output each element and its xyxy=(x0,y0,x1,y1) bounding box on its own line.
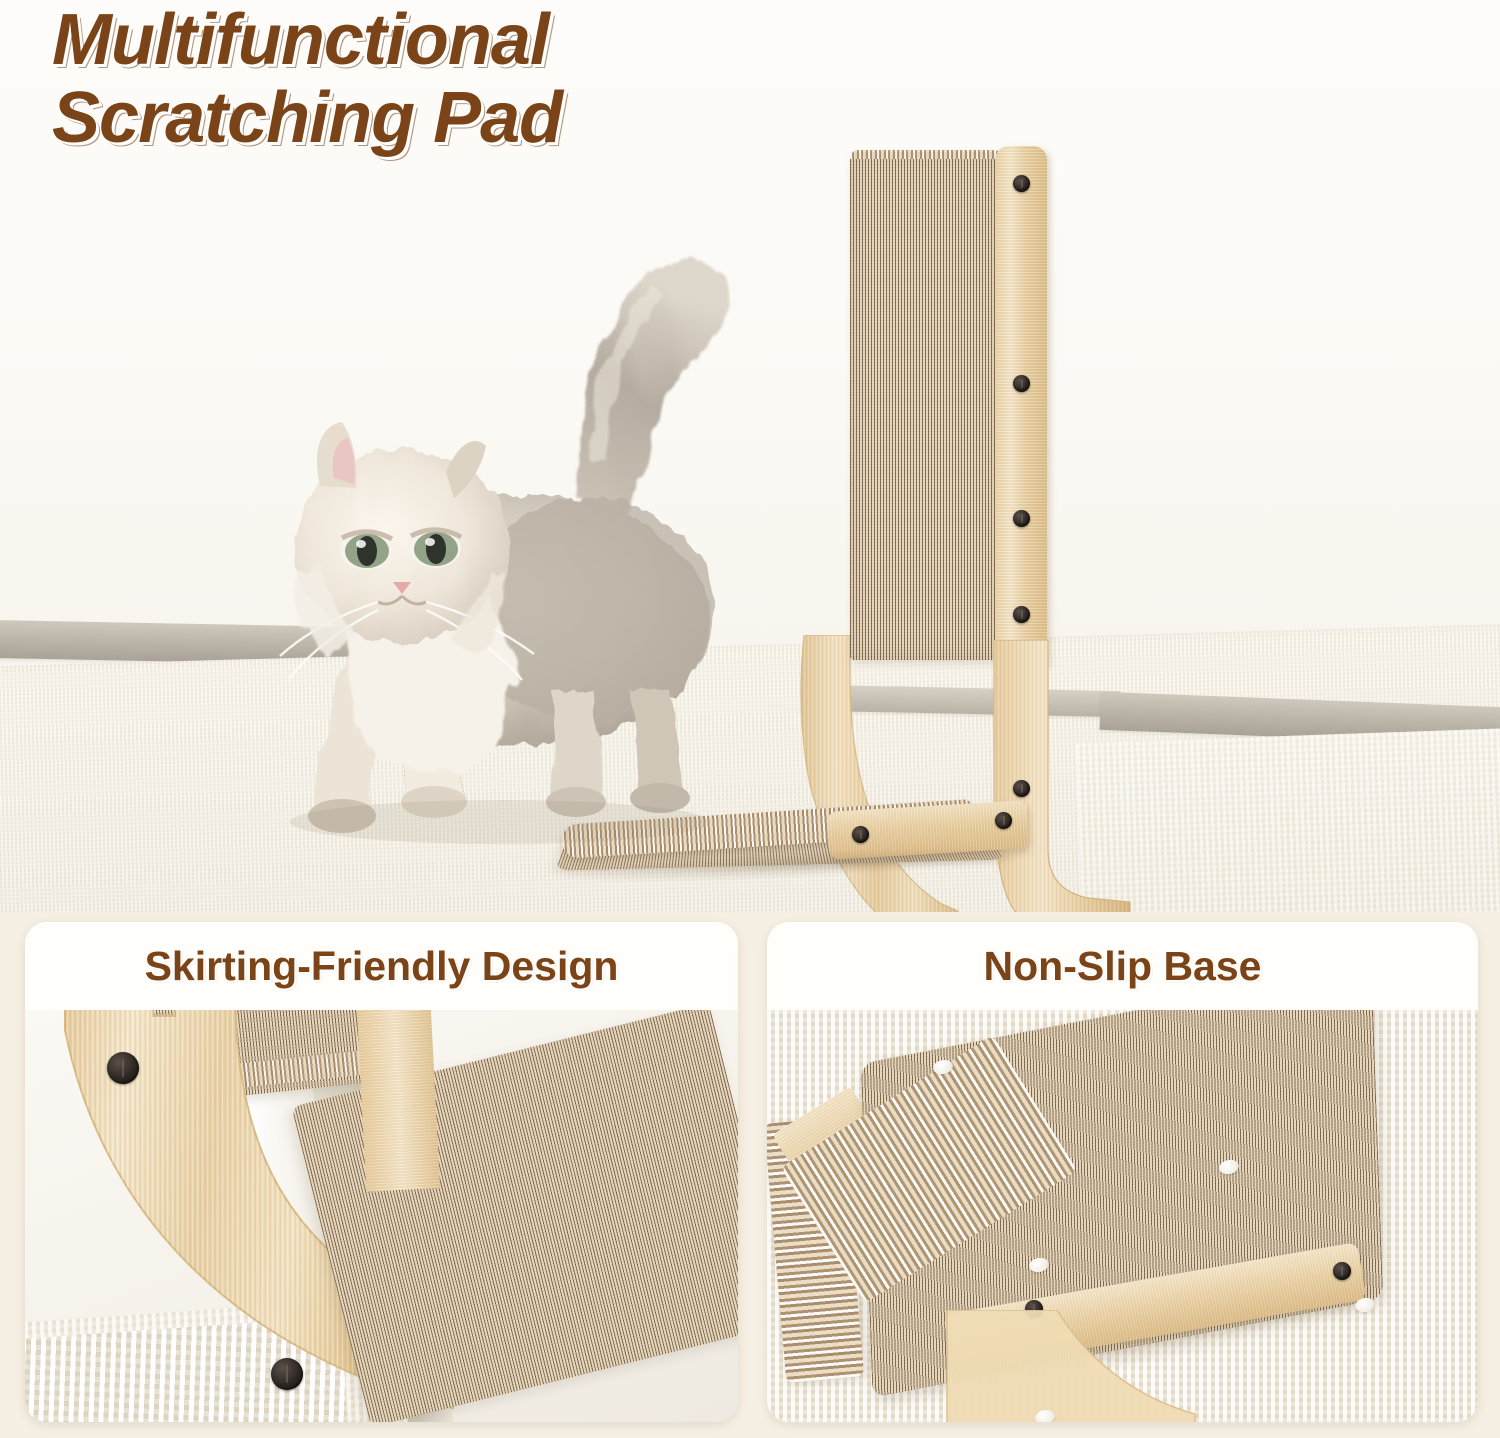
panel-image-nonslip xyxy=(767,1010,1478,1422)
nonslip-bracket-stub xyxy=(937,1310,1207,1422)
cat-shadow xyxy=(290,800,710,844)
screw-closeup-top xyxy=(107,1052,139,1084)
panel-header-skirting: Skirting-Friendly Design xyxy=(25,922,738,1010)
page-title: Multifunctional Scratching Pad xyxy=(52,4,812,154)
vertical-scratching-pad xyxy=(850,152,1002,660)
screw-closeup-bottom xyxy=(271,1358,303,1390)
vertical-pad-top-edge xyxy=(850,150,1002,159)
hero-section: Multifunctional Scratching Pad xyxy=(0,0,1500,912)
closeup-right-wood-rail xyxy=(356,1010,440,1192)
product-image: Multifunctional Scratching Pad Skirting-… xyxy=(0,0,1500,1438)
screw-upright-4 xyxy=(1013,606,1030,623)
screw-base-2 xyxy=(995,812,1012,829)
cat-photo xyxy=(250,250,770,860)
cat-eye-left xyxy=(340,530,392,570)
scratcher-right-bracket xyxy=(992,640,1132,912)
upright-wood-rail xyxy=(995,146,1047,666)
panel-title-skirting: Skirting-Friendly Design xyxy=(145,943,619,990)
screw-bracket-right xyxy=(1013,780,1030,797)
panel-title-nonslip: Non-Slip Base xyxy=(984,943,1262,990)
screw-upright-2 xyxy=(1013,375,1030,392)
title-line-2: Scratching Pad xyxy=(52,82,812,154)
panel-header-nonslip: Non-Slip Base xyxy=(767,922,1478,1010)
screw-upright-1 xyxy=(1013,175,1030,192)
title-line-1: Multifunctional xyxy=(52,0,549,80)
feature-panel-skirting: Skirting-Friendly Design xyxy=(25,922,738,1422)
feature-panel-nonslip: Non-Slip Base xyxy=(767,922,1478,1422)
cat-eye-right xyxy=(409,528,461,568)
screw-upright-3 xyxy=(1013,510,1030,527)
cat-tail xyxy=(579,260,729,523)
feature-panels: Skirting-Friendly Design xyxy=(0,912,1500,1438)
screw-base-1 xyxy=(852,826,869,843)
screw-nonslip-2 xyxy=(1333,1262,1351,1280)
panel-image-skirting xyxy=(25,1010,738,1422)
